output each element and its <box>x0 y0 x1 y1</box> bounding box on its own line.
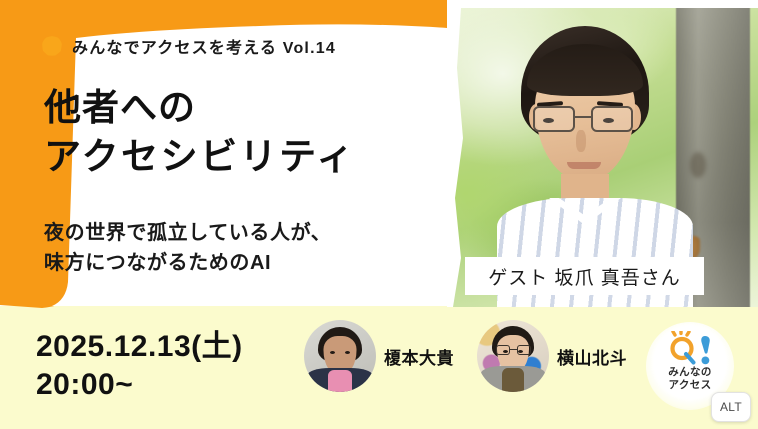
headline-line-1: 他者への <box>44 84 356 133</box>
subtitle-line-1: 夜の世界で孤立している人が、 <box>44 218 331 248</box>
octagon-dot-icon <box>42 36 62 56</box>
series-kicker-text: みんなでアクセスを考える Vol.14 <box>72 34 336 58</box>
brand-logo-text: みんなの アクセス <box>668 366 712 392</box>
minna-no-access-logo-icon <box>663 331 717 365</box>
speaker-name: 榎本大貴 <box>384 344 454 369</box>
series-kicker: みんなでアクセスを考える Vol.14 <box>42 34 336 58</box>
brand-logo-line-1: みんなの <box>668 366 712 379</box>
alt-text-badge[interactable]: ALT <box>711 392 751 422</box>
speaker-avatar-icon <box>304 320 376 392</box>
guest-name-label: ゲスト 坂爪 真吾さん <box>465 257 704 295</box>
subtitle-line-2: 味方につながるためのAI <box>44 248 331 278</box>
glasses-icon <box>496 345 531 356</box>
page-title: 他者への アクセシビリティ <box>44 84 356 182</box>
event-banner: ゲスト 坂爪 真吾さん みんなでアクセスを考える Vol.14 他者への アクセ… <box>0 0 758 429</box>
event-time: 20:00~ <box>36 366 243 404</box>
speaker-enomoto: 榎本大貴 <box>304 320 454 392</box>
speaker-yokoyama: 横山北斗 <box>477 320 627 392</box>
guest-name-text: ゲスト 坂爪 真吾さん <box>488 263 681 290</box>
brand-logo-line-2: アクセス <box>668 379 712 392</box>
speaker-avatar-icon <box>477 320 549 392</box>
event-datetime: 2025.12.13(土) 20:00~ <box>36 328 243 405</box>
subtitle: 夜の世界で孤立している人が、 味方につながるためのAI <box>44 218 331 278</box>
event-date: 2025.12.13(土) <box>36 328 243 366</box>
speaker-name: 横山北斗 <box>557 344 627 369</box>
headline-line-2: アクセシビリティ <box>44 133 356 182</box>
